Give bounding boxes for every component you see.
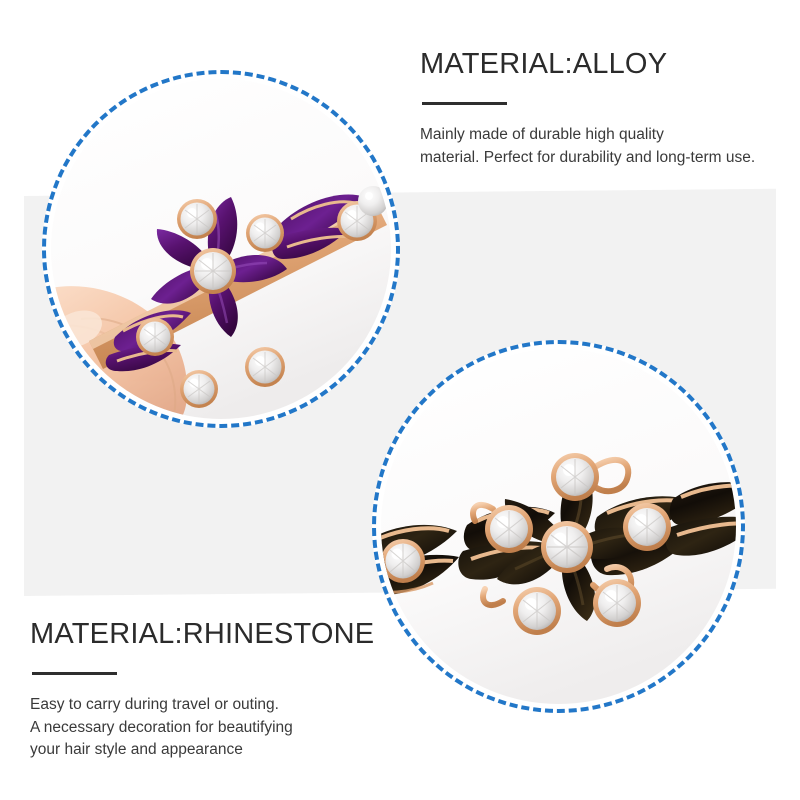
body-alloy: Mainly made of durable high quality mate… (420, 124, 755, 169)
heading-rhinestone: MATERIAL:RHINESTONE (30, 618, 374, 651)
heading-rule-rhinestone (32, 672, 117, 675)
heading-rule-alloy (422, 102, 507, 105)
body-rhinestone: Easy to carry during travel or outing. A… (30, 694, 374, 762)
text-block-rhinestone: MATERIAL:RHINESTONE Easy to carry during… (30, 618, 374, 762)
product-photo-purple (42, 70, 400, 428)
product-photo-purple-image (51, 79, 391, 419)
product-photo-black-image (381, 349, 736, 704)
text-block-alloy: MATERIAL:ALLOY Mainly made of durable hi… (420, 48, 755, 169)
infographic-canvas: MATERIAL:ALLOY Mainly made of durable hi… (0, 0, 800, 800)
heading-alloy: MATERIAL:ALLOY (420, 48, 755, 81)
product-photo-black (372, 340, 745, 713)
